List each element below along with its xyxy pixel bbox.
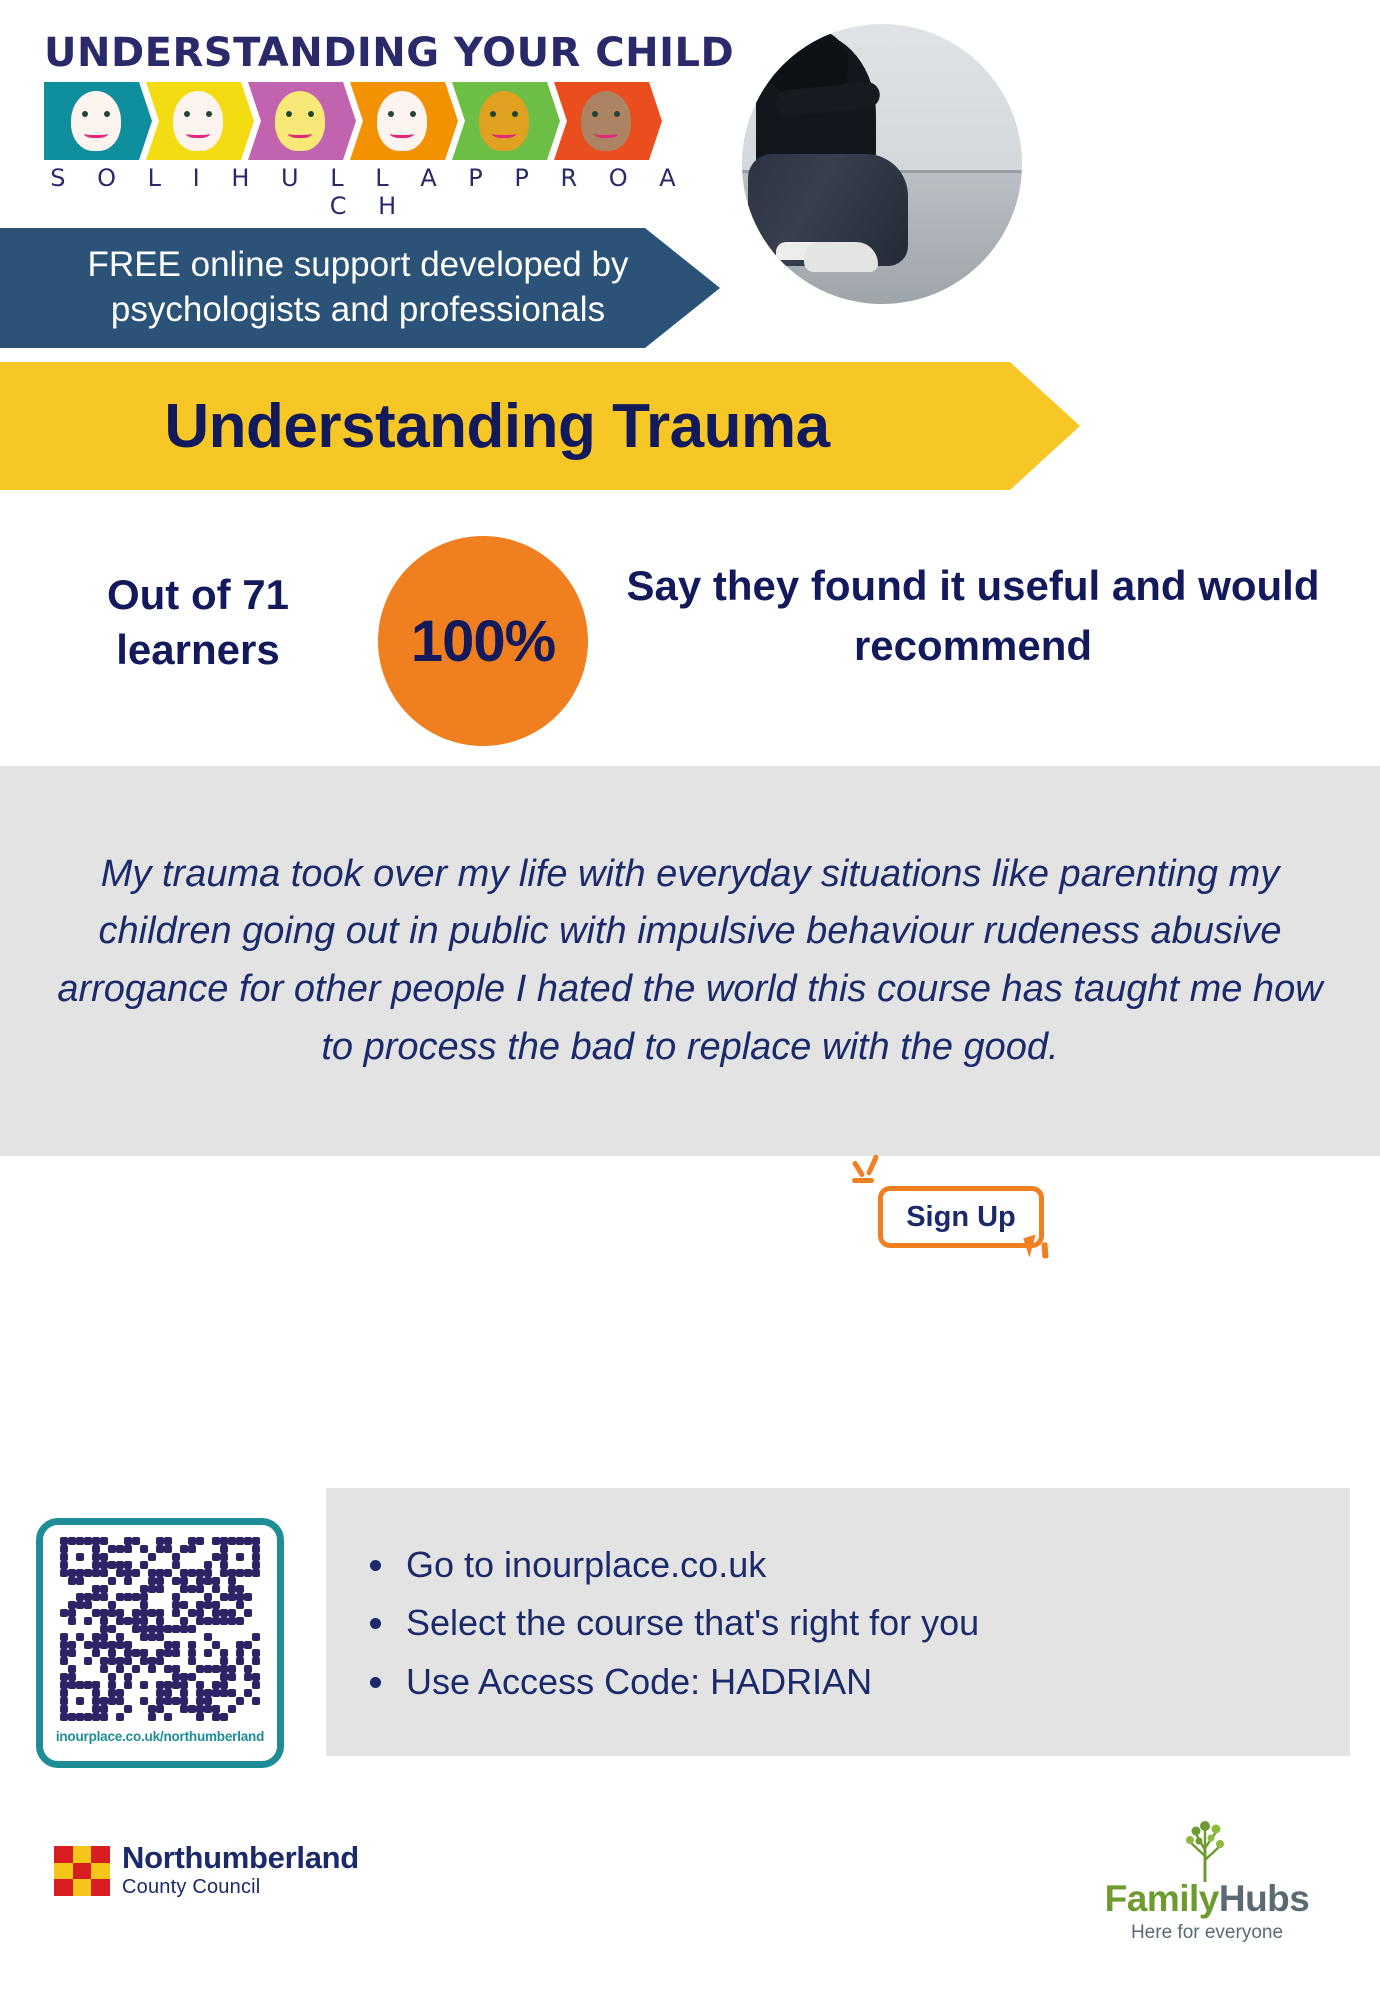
recommendation-label: Say they found it useful and would recom… xyxy=(608,556,1338,675)
instructions-panel: Go to inourplace.co.ukSelect the course … xyxy=(326,1488,1350,1756)
logo-face-1 xyxy=(44,82,152,160)
logo-face-5 xyxy=(452,82,560,160)
council-subtitle: County Council xyxy=(122,1876,359,1899)
family-hubs-tagline: Here for everyone xyxy=(1062,1922,1352,1944)
page-title: Understanding Trauma xyxy=(0,391,1080,462)
testimonial-band: My trauma took over my life with everyda… xyxy=(0,766,1380,1156)
statistics-row: Out of 71 learners 100% Say they found i… xyxy=(0,528,1380,764)
family-hubs-word-2: Hubs xyxy=(1219,1878,1310,1919)
logo-face-6 xyxy=(554,82,662,160)
qr-code-image[interactable] xyxy=(60,1537,260,1723)
solihull-approach-logo: UNDERSTANDING YOUR CHILD S O L I H U L L… xyxy=(44,30,694,200)
logo-subtitle: S O L I H U L L A P P R O A C H xyxy=(44,164,694,220)
council-name: Northumberland xyxy=(122,1840,359,1876)
sparkle-icon xyxy=(852,1160,866,1178)
sign-up-graphic[interactable]: Sign Up xyxy=(850,1152,1070,1272)
logo-title: UNDERSTANDING YOUR CHILD xyxy=(44,30,694,76)
council-crest-icon xyxy=(54,1846,110,1896)
sparkle-icon xyxy=(866,1154,880,1176)
logo-face-4 xyxy=(350,82,458,160)
hero-photo xyxy=(742,24,1022,304)
learners-count-label: Out of 71 learners xyxy=(48,568,348,677)
family-hubs-logo: FamilyHubs Here for everyone xyxy=(1062,1830,1352,1950)
family-hubs-word-1: Family xyxy=(1105,1878,1219,1919)
sign-up-button[interactable]: Sign Up xyxy=(878,1186,1044,1248)
family-hubs-name: FamilyHubs xyxy=(1062,1878,1352,1920)
tree-icon xyxy=(1170,1816,1240,1886)
percentage-badge: 100% xyxy=(378,536,588,746)
instruction-item-2: Select the course that's right for you xyxy=(360,1594,979,1652)
free-support-text: FREE online support developed by psychol… xyxy=(0,243,720,333)
sparkle-icon xyxy=(852,1178,874,1183)
logo-face-strip xyxy=(44,82,684,160)
percentage-value: 100% xyxy=(411,608,555,675)
qr-url-caption: inourplace.co.uk/northumberland xyxy=(56,1729,264,1744)
course-title-banner: Understanding Trauma xyxy=(0,362,1080,490)
instruction-item-3: Use Access Code: HADRIAN xyxy=(360,1653,979,1711)
free-support-banner: FREE online support developed by psychol… xyxy=(0,228,720,348)
instructions-list: Go to inourplace.co.ukSelect the course … xyxy=(360,1536,979,1711)
northumberland-council-logo: Northumberland County Council xyxy=(54,1840,394,1910)
qr-code-card[interactable]: inourplace.co.uk/northumberland xyxy=(36,1518,284,1768)
logo-face-2 xyxy=(146,82,254,160)
poster-root: UNDERSTANDING YOUR CHILD S O L I H U L L… xyxy=(0,0,1380,2000)
testimonial-quote: My trauma took over my life with everyda… xyxy=(55,846,1325,1077)
logo-face-3 xyxy=(248,82,356,160)
instruction-item-1: Go to inourplace.co.uk xyxy=(360,1536,979,1594)
